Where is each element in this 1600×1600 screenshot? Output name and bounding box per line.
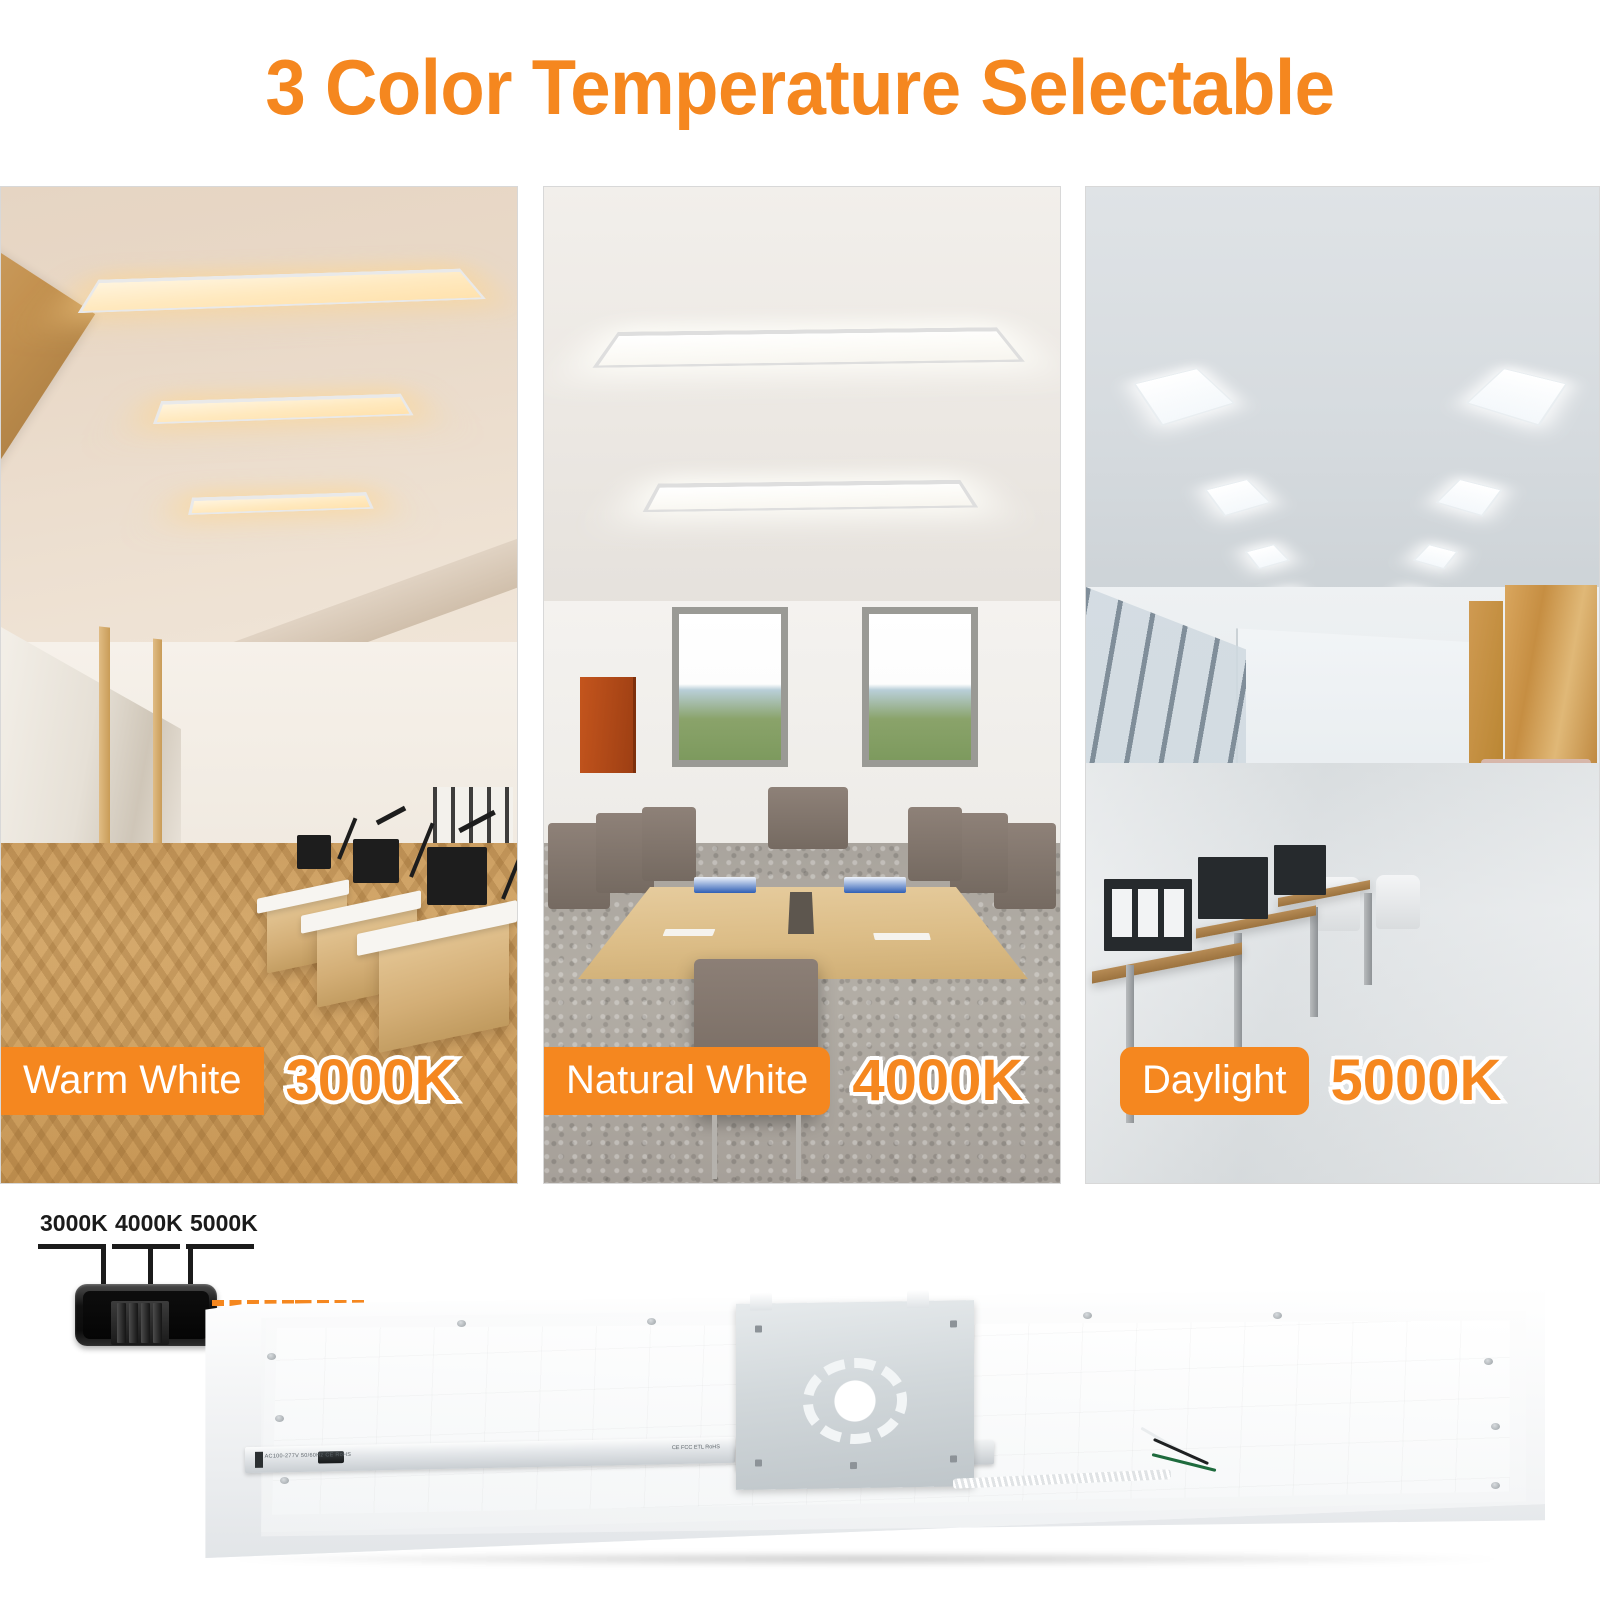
chair-leg-2 <box>796 1107 801 1179</box>
product-infographic: 3 Color Temperature Selectable <box>0 0 1600 1600</box>
led-panel-neutral-2 <box>643 480 979 512</box>
switch-label-3000k: 3000K <box>40 1210 108 1237</box>
bracket-hole-2 <box>950 1320 957 1327</box>
fixture-screw-1 <box>267 1353 276 1360</box>
binder-left <box>694 877 756 893</box>
leader-line-3000k-h <box>38 1244 106 1249</box>
file-paper-2 <box>1138 889 1158 937</box>
ct-kelvin-neutral: 4000K <box>852 1052 1023 1110</box>
switch-label-4000k: 4000K <box>115 1210 183 1237</box>
fixture-screw-9 <box>1484 1358 1493 1365</box>
leader-line-4000k-h <box>112 1244 180 1249</box>
bracket-hole-3 <box>755 1459 762 1466</box>
bracket-hole-1 <box>755 1325 762 1332</box>
window-left <box>672 607 788 767</box>
scene-warm-white: Warm White 3000K <box>0 186 518 1184</box>
scene-natural-white: Natural White 4000K <box>543 186 1061 1184</box>
fixture-shadow <box>212 1552 1518 1566</box>
fixture-screw-2 <box>275 1415 284 1422</box>
office-chair-2 <box>1376 875 1420 929</box>
driver-cert-text: CE FCC ETL RoHS <box>672 1444 720 1451</box>
monitor-3 <box>297 835 331 869</box>
dip-toggle-3[interactable] <box>141 1303 150 1343</box>
dip-toggle-4[interactable] <box>153 1303 162 1343</box>
monitor-1 <box>427 847 487 905</box>
file-holder-2 <box>1198 857 1268 919</box>
driver-connector-block <box>255 1451 263 1467</box>
fixture-screw-10 <box>1491 1423 1500 1430</box>
fixture-screw-5 <box>647 1318 656 1325</box>
file-paper-3 <box>1164 889 1184 937</box>
ct-band-neutral: Natural White 4000K <box>544 1047 1023 1115</box>
bracket-knockout-ring <box>802 1357 907 1444</box>
dip-toggle-1[interactable] <box>117 1303 126 1343</box>
ct-band-daylight: Daylight 5000K <box>1120 1047 1501 1115</box>
ct-kelvin-daylight: 5000K <box>1331 1052 1502 1110</box>
window-right <box>862 607 978 767</box>
bracket-tab-1 <box>750 1292 771 1311</box>
file-paper-1 <box>1112 889 1132 937</box>
fixture-screw-7 <box>1083 1312 1092 1319</box>
bracket-hole-5 <box>850 1462 857 1469</box>
ceiling-surface <box>544 187 1060 617</box>
monitor-2 <box>353 839 399 883</box>
binder-right <box>844 877 906 893</box>
bracket-hole-4 <box>950 1455 957 1462</box>
desk-leg-3 <box>1310 907 1318 1017</box>
paper-right <box>873 933 931 940</box>
ct-chip-daylight: Daylight <box>1120 1047 1309 1115</box>
chair-right-3 <box>908 807 962 881</box>
bracket-tab-2 <box>907 1289 928 1308</box>
file-holder-3 <box>1274 845 1326 895</box>
scene-gallery: Warm White 3000K <box>0 186 1600 1184</box>
chair-left-3 <box>642 807 696 881</box>
chair-leg-1 <box>712 1107 717 1179</box>
ct-kelvin-warm: 3000K <box>286 1052 457 1110</box>
wood-cabinet <box>580 677 636 773</box>
switch-label-5000k: 5000K <box>190 1210 258 1237</box>
junction-box-bracket <box>736 1300 974 1490</box>
led-panel-fixture: AC100-277V 50/60Hz CE RoHS CE FCC ETL Ro… <box>185 1288 1545 1558</box>
table-cable-slot <box>788 892 814 934</box>
chair-far-end <box>768 787 848 849</box>
led-panel-neutral-1 <box>592 327 1024 368</box>
desk-leg-4 <box>1364 893 1372 985</box>
dip-toggle-2[interactable] <box>129 1303 138 1343</box>
concrete-floor <box>1086 763 1599 1183</box>
ct-band-warm: Warm White 3000K <box>1 1047 456 1115</box>
page-title: 3 Color Temperature Selectable <box>56 42 1544 133</box>
ct-chip-neutral: Natural White <box>544 1047 830 1115</box>
leader-line-5000k-h <box>186 1244 254 1249</box>
scene-daylight: Daylight 5000K <box>1085 186 1600 1184</box>
ct-chip-warm: Warm White <box>1 1047 264 1115</box>
paper-left <box>663 929 716 936</box>
